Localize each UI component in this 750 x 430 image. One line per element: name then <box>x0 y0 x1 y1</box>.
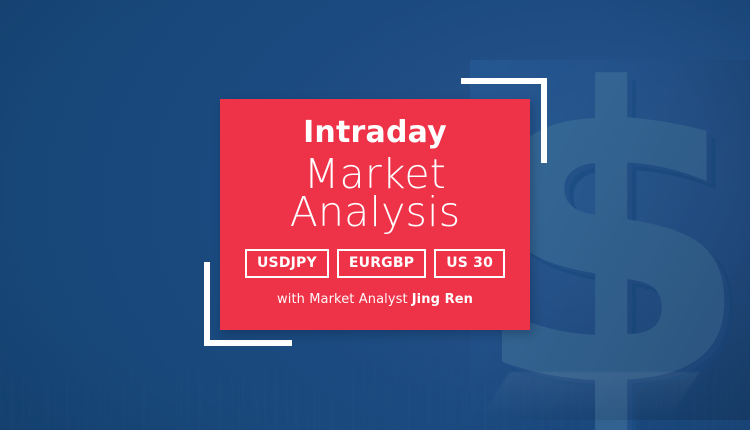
page-title: Market Analysis <box>220 150 530 231</box>
byline: with Market AnalystJing Ren <box>220 292 530 308</box>
byline-prefix: with Market Analyst <box>277 292 408 307</box>
eyebrow-text: Intraday <box>220 99 530 150</box>
instrument-badge-us30[interactable]: US 30 <box>434 249 505 278</box>
corner-bracket-bottom-left-horizontal <box>204 340 292 346</box>
instrument-badge-eurgbp[interactable]: EURGBP <box>337 249 426 278</box>
corner-bracket-top-right-horizontal <box>461 78 547 84</box>
byline-analyst-name: Jing Ren <box>412 292 473 307</box>
corner-bracket-top-right-vertical <box>541 78 547 163</box>
dollar-sign-floor-reflection <box>480 372 700 416</box>
market-analysis-banner: $ $ $ Intraday Market Analysis USDJPY EU… <box>0 0 750 430</box>
instrument-badge-list: USDJPY EURGBP US 30 <box>220 249 530 278</box>
headline-card: Intraday Market Analysis USDJPY EURGBP U… <box>220 99 530 330</box>
corner-bracket-bottom-left-vertical <box>204 262 210 346</box>
instrument-badge-usdjpy[interactable]: USDJPY <box>245 249 329 278</box>
page-title-line-2: Analysis <box>220 193 530 231</box>
